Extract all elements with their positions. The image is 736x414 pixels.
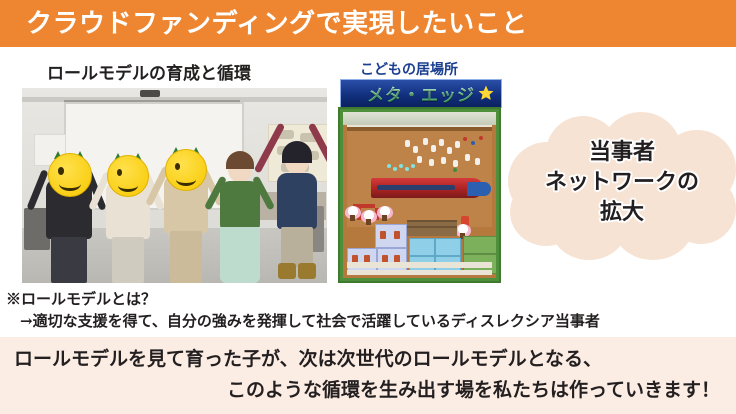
note-line-2: →適切な支援を得て、自分の強みを発揮して社会で活躍しているディスレクシア当事者 [20, 310, 600, 331]
game-banner: メタ・エッジ [340, 79, 502, 108]
person-5 [268, 133, 326, 283]
tatami-room [375, 224, 407, 248]
star-icon [477, 84, 495, 102]
sakura-tree [361, 210, 377, 223]
water-tile [435, 238, 461, 256]
map-bottom-rail [347, 262, 492, 268]
game-caption: こどもの居場所 [360, 59, 458, 79]
group-photo [22, 88, 327, 283]
game-banner-label: メタ・エッジ [367, 81, 475, 106]
sakura-tree [345, 206, 361, 219]
left-photo-caption: ロールモデルの育成と循環 [47, 59, 251, 84]
train-nose [467, 182, 491, 196]
emoji-mask [107, 155, 149, 197]
slide-root: クラウドファンディングで実現したいこと ロールモデルの育成と循環 [0, 0, 736, 414]
callout-text: 当事者 ネットワークの 拡大 [508, 138, 736, 228]
map-top-wall [343, 112, 496, 125]
page-title: クラウドファンディングで実現したいこと [26, 5, 528, 43]
person-3 [158, 147, 214, 283]
sakura-tree [377, 206, 393, 219]
projector [140, 90, 160, 97]
bottom-line-2: このような循環を生み出す場を私たちは作っていきます！ [227, 375, 720, 402]
game-map [343, 112, 496, 278]
note-line-1: ※ロールモデルとは？ [6, 288, 156, 309]
callout-cloud: 当事者 ネットワークの 拡大 [508, 112, 736, 260]
tatami-room [347, 248, 377, 272]
tatami-room [377, 248, 407, 272]
emoji-mask [165, 149, 207, 191]
water-tile [409, 238, 435, 256]
person-1 [40, 147, 98, 283]
wooden-fence [407, 220, 457, 236]
map-bottom-rail-2 [347, 270, 492, 275]
green-field [463, 236, 496, 254]
bottom-line-1: ロールモデルを見て育った子が、次は次世代のロールモデルとなる、 [14, 344, 602, 371]
person-2 [100, 151, 156, 283]
game-screenshot [338, 107, 501, 283]
emoji-mask [48, 153, 92, 197]
